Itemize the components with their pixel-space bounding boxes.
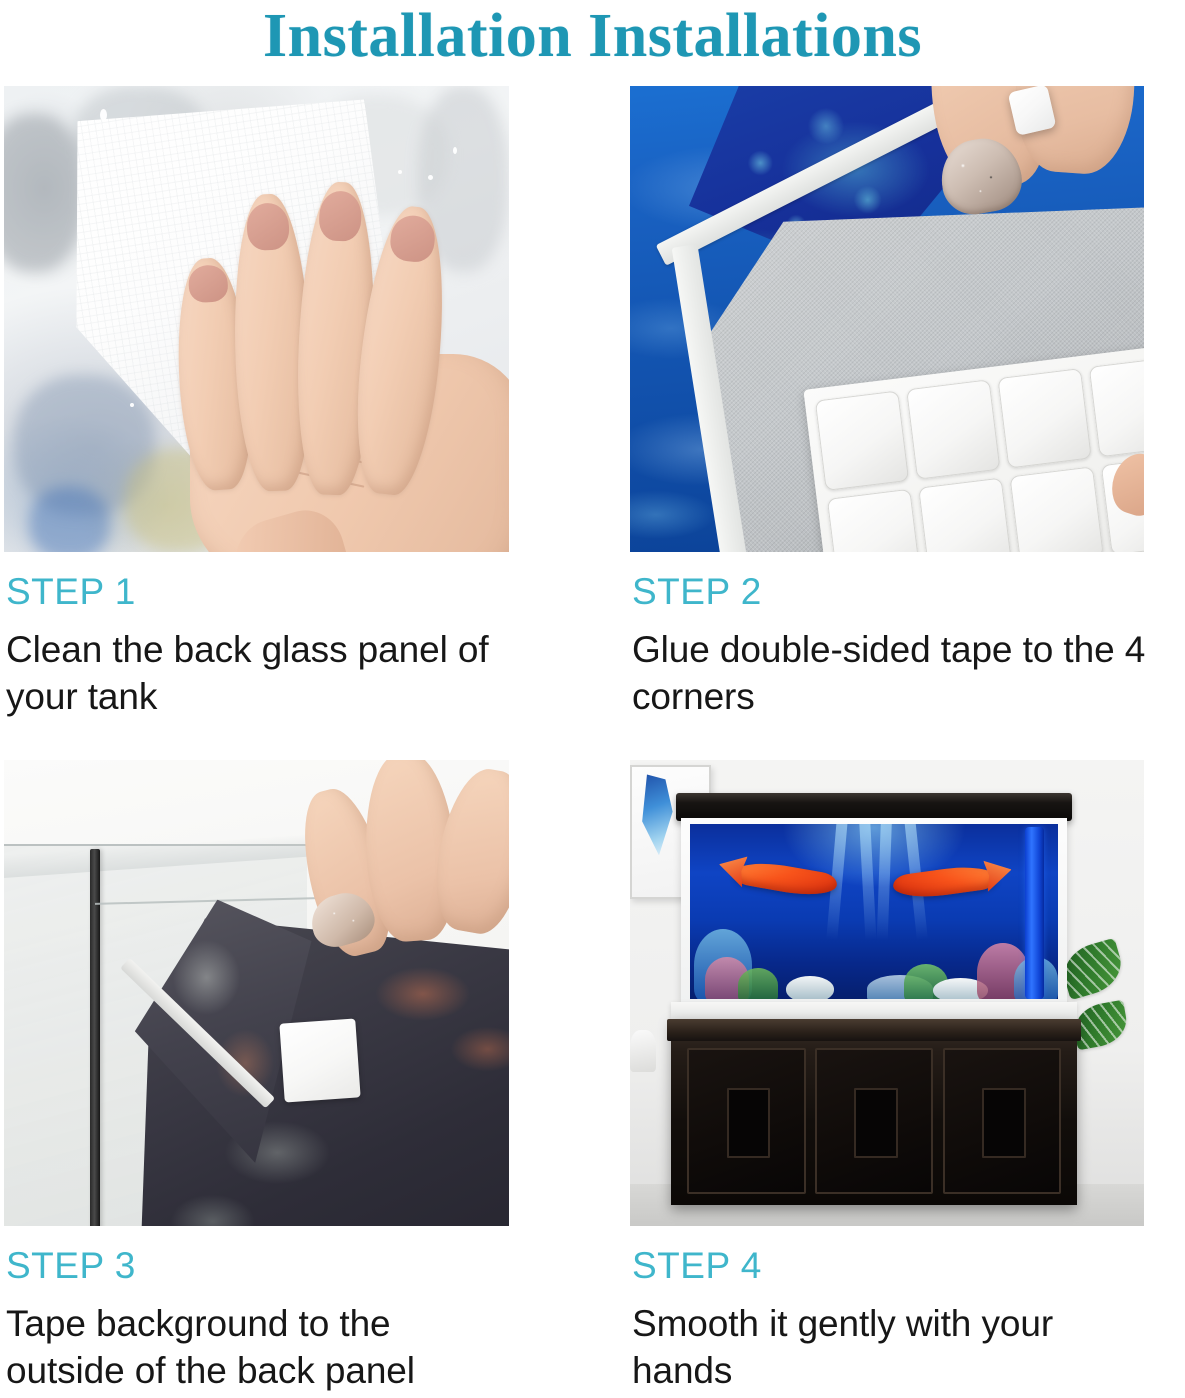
page-header: Installation Installations: [0, 0, 1185, 82]
cabinet-door[interactable]: [943, 1048, 1061, 1193]
plant-leaf: [1057, 938, 1127, 1000]
step-2-description: Glue double-sided tape to the 4 corners: [632, 626, 1152, 720]
step-card-1: STEP 1 Clean the back glass panel of you…: [4, 86, 514, 720]
side-table-object: [630, 1030, 656, 1072]
step-4-label: STEP 4: [632, 1246, 1150, 1286]
tape-square: [1089, 356, 1144, 457]
fish-tail: [983, 857, 1014, 892]
step-card-2: STEP 2 Glue double-sided tape to the 4 c…: [630, 86, 1140, 720]
step-1-caption: STEP 1 Clean the back glass panel of you…: [4, 572, 509, 720]
coral: [738, 968, 779, 1000]
applied-tape-square: [279, 1018, 360, 1102]
hand-wiping: [161, 170, 509, 552]
fingernail: [319, 191, 363, 242]
step-4-caption: STEP 4 Smooth it gently with your hands: [630, 1246, 1150, 1394]
cabinet-door[interactable]: [815, 1048, 933, 1193]
step-card-3: STEP 3 Tape background to the outside of…: [4, 760, 514, 1394]
step-1-photo: [4, 86, 509, 552]
house-plant: [1067, 937, 1139, 1077]
cabinet-doors: [687, 1048, 1061, 1193]
blue-light-tube: [1025, 827, 1043, 999]
tape-square: [815, 390, 910, 491]
step-3-description: Tape background to the outside of the ba…: [6, 1300, 506, 1394]
fingernail: [389, 213, 438, 263]
step-1-label: STEP 1: [6, 572, 509, 612]
step-2-photo: [630, 86, 1144, 552]
tape-square: [998, 368, 1093, 469]
arowana-fish: [733, 857, 839, 901]
step-3-label: STEP 3: [6, 1246, 509, 1286]
tape-square: [1010, 466, 1105, 552]
tape-square: [827, 488, 922, 552]
coral: [786, 976, 834, 999]
fish-tail: [716, 852, 748, 888]
step-3-caption: STEP 3 Tape background to the outside of…: [4, 1246, 509, 1394]
tape-square: [918, 477, 1013, 552]
step-1-description: Clean the back glass panel of your tank: [6, 626, 506, 720]
hand-holding-tape: [918, 86, 1144, 226]
cabinet-top: [667, 1019, 1081, 1041]
step-4-description: Smooth it gently with your hands: [632, 1300, 1152, 1394]
tank-black-corner-trim: [90, 849, 100, 1226]
fingernail: [187, 264, 229, 304]
aquarium-background-scene: [690, 824, 1059, 999]
step-2-caption: STEP 2 Glue double-sided tape to the 4 c…: [630, 572, 1150, 720]
aquarium-hood: [676, 793, 1072, 821]
tape-square: [906, 379, 1001, 480]
installation-steps-grid: STEP 1 Clean the back glass panel of you…: [0, 82, 1185, 1398]
step-3-photo: [4, 760, 509, 1226]
page-title: Installation Installations: [263, 2, 922, 70]
fingernail: [247, 202, 290, 251]
step-2-label: STEP 2: [632, 572, 1150, 612]
step-4-photo: [630, 760, 1144, 1226]
aquarium-cabinet-stand: [671, 1019, 1077, 1205]
aquarium-glass: [681, 818, 1067, 1004]
arowana-fish: [891, 862, 997, 902]
cabinet-door[interactable]: [687, 1048, 805, 1193]
step-card-4: STEP 4 Smooth it gently with your hands: [630, 760, 1140, 1394]
hand-applying-poster: [267, 765, 509, 961]
